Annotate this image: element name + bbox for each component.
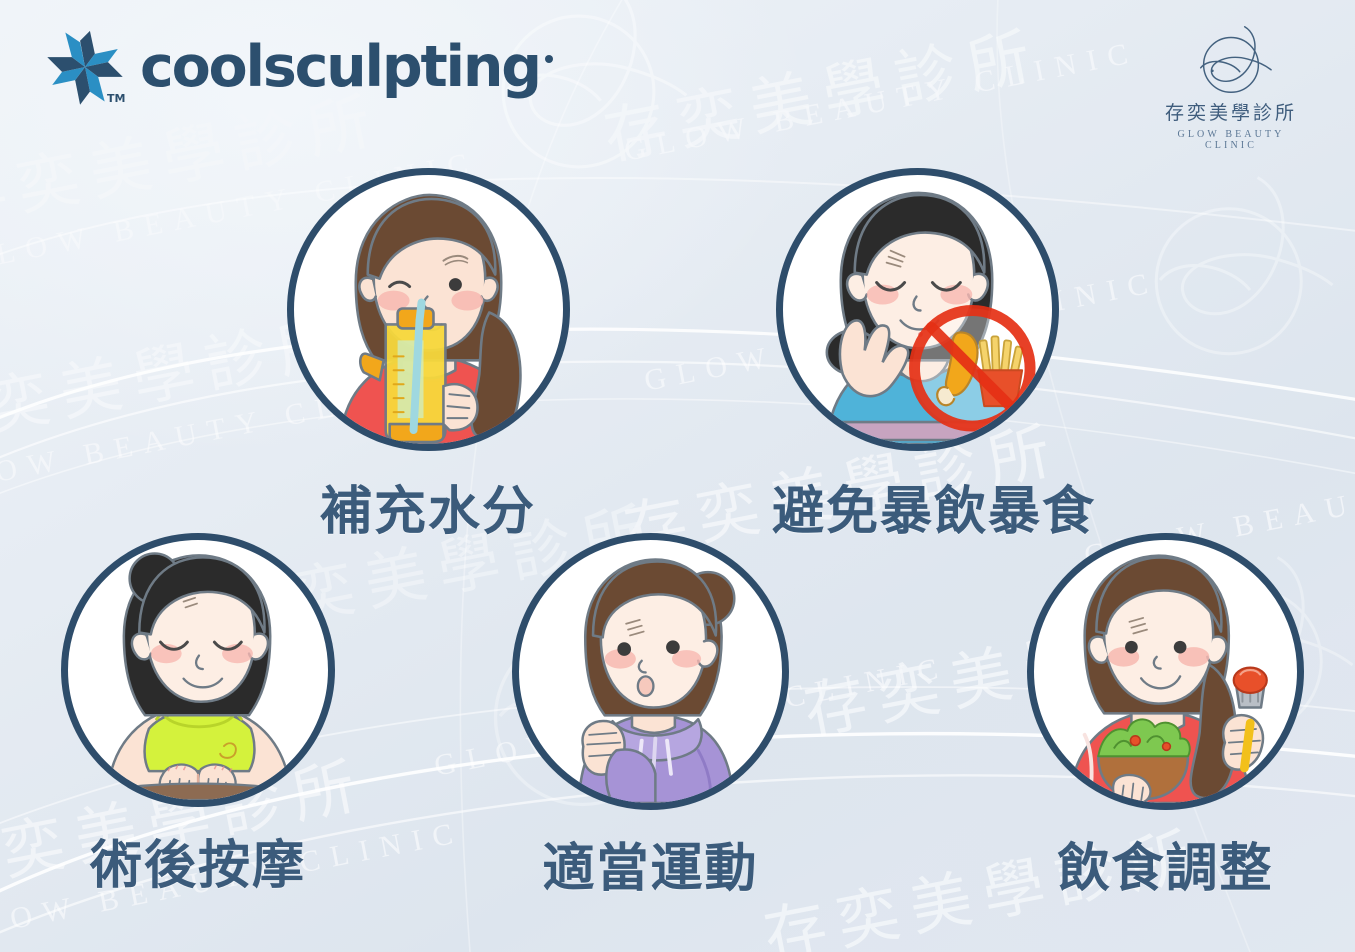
wordmark-dot-icon bbox=[545, 55, 553, 63]
ghost-calligraphy-mark bbox=[1110, 150, 1355, 400]
watermark-cn: 存奕美學診所 bbox=[595, 3, 1048, 176]
tile-label: 避免暴飲暴食 bbox=[772, 469, 1062, 544]
tile-post-treatment-massage[interactable]: 術後按摩 bbox=[58, 533, 338, 898]
illustration-woman-drinking-water bbox=[287, 168, 570, 451]
tile-label: 術後按摩 bbox=[58, 823, 338, 898]
clinic-name-en: GLOW BEAUTY CLINIC bbox=[1151, 129, 1311, 151]
watermark-en: GLOW BEAUTY CLINIC bbox=[622, 35, 1142, 168]
coolsculpting-wordmark: coolsculpting bbox=[140, 39, 540, 96]
poster-canvas: 存奕美學診所 存奕美學診所 存奕美學診所 存奕美學診所 存奕美學診所 存奕美學診… bbox=[0, 0, 1355, 952]
illustration-woman-exercising bbox=[512, 533, 789, 810]
clinic-logo: 存奕美學診所 GLOW BEAUTY CLINIC bbox=[1151, 16, 1311, 151]
trademark-icon: TM bbox=[107, 92, 125, 105]
clinic-name-cn: 存奕美學診所 bbox=[1151, 98, 1311, 125]
tile-hydration[interactable]: 補充水分 bbox=[283, 168, 573, 544]
illustration-woman-refusing-junk-food bbox=[776, 168, 1059, 451]
tile-appropriate-exercise[interactable]: 適當運動 bbox=[508, 533, 793, 901]
tile-label: 飲食調整 bbox=[1023, 826, 1308, 901]
coolsculpting-logo: TM coolsculpting bbox=[44, 26, 540, 108]
wordmark-text: coolsculpting bbox=[140, 34, 540, 100]
tile-diet-adjustment[interactable]: 飲食調整 bbox=[1023, 533, 1308, 901]
tile-avoid-binge-eating[interactable]: 避免暴飲暴食 bbox=[772, 168, 1062, 544]
clinic-calligraphy-icon bbox=[1151, 16, 1311, 96]
coolsculpting-pinwheel-icon: TM bbox=[44, 26, 126, 108]
no-junk-food-sign bbox=[912, 309, 1032, 429]
illustration-woman-massaging-abdomen bbox=[61, 533, 335, 807]
tile-label: 適當運動 bbox=[508, 826, 793, 901]
illustration-woman-with-salad bbox=[1027, 533, 1304, 810]
